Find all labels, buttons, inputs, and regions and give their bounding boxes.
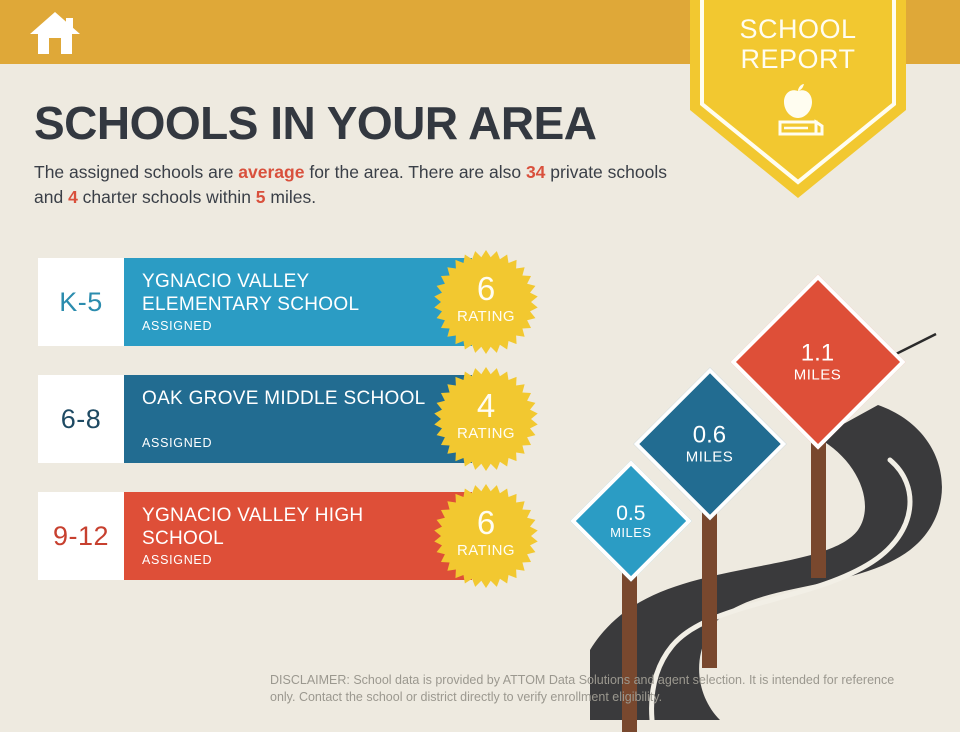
- school-status: ASSIGNED: [142, 319, 212, 333]
- rating-value: 4: [434, 387, 538, 425]
- school-name: YGNACIO VALLEY ELEMENTARY SCHOOL: [142, 270, 442, 316]
- sign-value: 0.6: [686, 422, 734, 448]
- rating-badge: 6 RATING: [434, 484, 538, 588]
- school-row[interactable]: 6-8 OAK GROVE MIDDLE SCHOOL ASSIGNED 4 R…: [38, 375, 528, 463]
- rating-value: 6: [434, 504, 538, 542]
- badge-title-line1: SCHOOL: [690, 14, 906, 44]
- page-subtitle: The assigned schools are average for the…: [34, 160, 694, 210]
- apple-on-book-icon: [768, 80, 828, 140]
- subtitle-highlight-charter-count: 4: [68, 187, 78, 207]
- school-name: OAK GROVE MIDDLE SCHOOL: [142, 387, 442, 410]
- home-icon: [28, 10, 82, 56]
- subtitle-highlight-average: average: [238, 162, 304, 182]
- school-bar: OAK GROVE MIDDLE SCHOOL ASSIGNED: [124, 375, 472, 463]
- sign-post-0-6: [702, 508, 717, 668]
- road-illustration: 1.1 MILES 0.6 MILES 0.5 MILES: [590, 280, 960, 720]
- school-status: ASSIGNED: [142, 553, 212, 567]
- grade-badge: 9-12: [38, 492, 124, 580]
- rating-badge: 6 RATING: [434, 250, 538, 354]
- school-bar: YGNACIO VALLEY ELEMENTARY SCHOOL ASSIGNE…: [124, 258, 472, 346]
- badge-title: SCHOOL REPORT: [690, 14, 906, 74]
- school-name: YGNACIO VALLEY HIGH SCHOOL: [142, 504, 442, 550]
- sign-post-0-5: [622, 562, 637, 732]
- school-row[interactable]: K-5 YGNACIO VALLEY ELEMENTARY SCHOOL ASS…: [38, 258, 528, 346]
- sign-value: 1.1: [794, 340, 842, 366]
- subtitle-part2: for the area. There are also: [304, 162, 525, 182]
- rating-label: RATING: [434, 308, 538, 325]
- rating-label: RATING: [434, 425, 538, 442]
- sign-inner: 1.1 MILES: [794, 340, 842, 383]
- subtitle-highlight-private-count: 34: [526, 162, 545, 182]
- school-row[interactable]: 9-12 YGNACIO VALLEY HIGH SCHOOL ASSIGNED…: [38, 492, 528, 580]
- rating-value: 6: [434, 270, 538, 308]
- rating-label: RATING: [434, 542, 538, 559]
- subtitle-part5: miles.: [266, 187, 317, 207]
- rating-badge: 4 RATING: [434, 367, 538, 471]
- sign-inner: 0.5 MILES: [610, 502, 652, 540]
- grade-badge: 6-8: [38, 375, 124, 463]
- sign-unit: MILES: [610, 525, 652, 540]
- school-status: ASSIGNED: [142, 436, 212, 450]
- sign-post-1-1: [811, 438, 826, 578]
- sign-inner: 0.6 MILES: [686, 422, 734, 465]
- badge-title-line2: REPORT: [690, 44, 906, 74]
- page-title: SCHOOLS IN YOUR AREA: [34, 96, 597, 150]
- school-report-badge: SCHOOL REPORT: [690, 0, 906, 198]
- disclaimer-text: DISCLAIMER: School data is provided by A…: [270, 672, 915, 706]
- school-bar: YGNACIO VALLEY HIGH SCHOOL ASSIGNED: [124, 492, 472, 580]
- subtitle-highlight-radius: 5: [256, 187, 266, 207]
- subtitle-part4: charter schools within: [78, 187, 256, 207]
- sign-unit: MILES: [686, 448, 734, 465]
- sign-unit: MILES: [794, 366, 842, 383]
- grade-badge: K-5: [38, 258, 124, 346]
- subtitle-part1: The assigned schools are: [34, 162, 238, 182]
- sign-value: 0.5: [610, 502, 652, 525]
